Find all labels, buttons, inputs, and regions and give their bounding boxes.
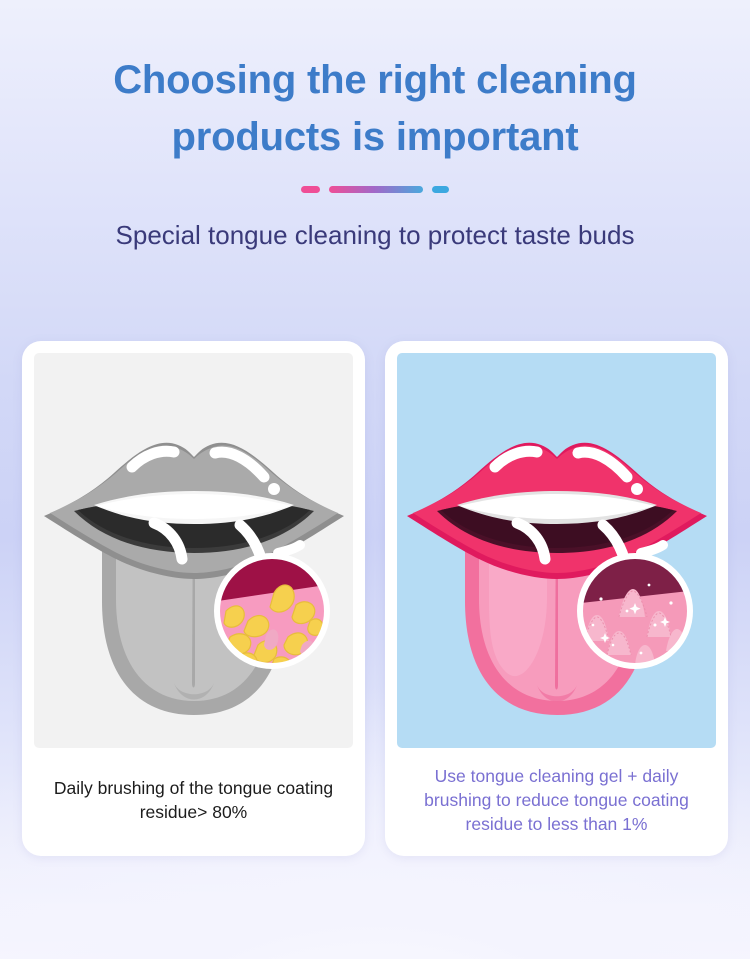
card-after-caption: Use tongue cleaning gel + daily brushing… <box>397 748 716 856</box>
grayscale-mouth-icon <box>34 353 353 748</box>
comparison-cards: Daily brushing of the tongue coating res… <box>22 341 728 856</box>
promo-page: Choosing the right cleaning products is … <box>0 0 750 959</box>
page-subtitle: Special tongue cleaning to protect taste… <box>0 218 750 252</box>
card-after[interactable]: Use tongue cleaning gel + daily brushing… <box>385 341 728 856</box>
title-divider <box>301 186 449 193</box>
card-before[interactable]: Daily brushing of the tongue coating res… <box>22 341 365 856</box>
pink-mouth-icon <box>397 353 716 748</box>
divider-bar-center <box>329 186 423 193</box>
page-title: Choosing the right cleaning products is … <box>0 52 750 166</box>
card-before-image-panel <box>34 353 353 748</box>
card-before-caption: Daily brushing of the tongue coating res… <box>34 748 353 856</box>
card-after-image-panel <box>397 353 716 748</box>
divider-dash-right <box>432 186 449 193</box>
header: Choosing the right cleaning products is … <box>0 52 750 252</box>
divider-dash-left <box>301 186 320 193</box>
